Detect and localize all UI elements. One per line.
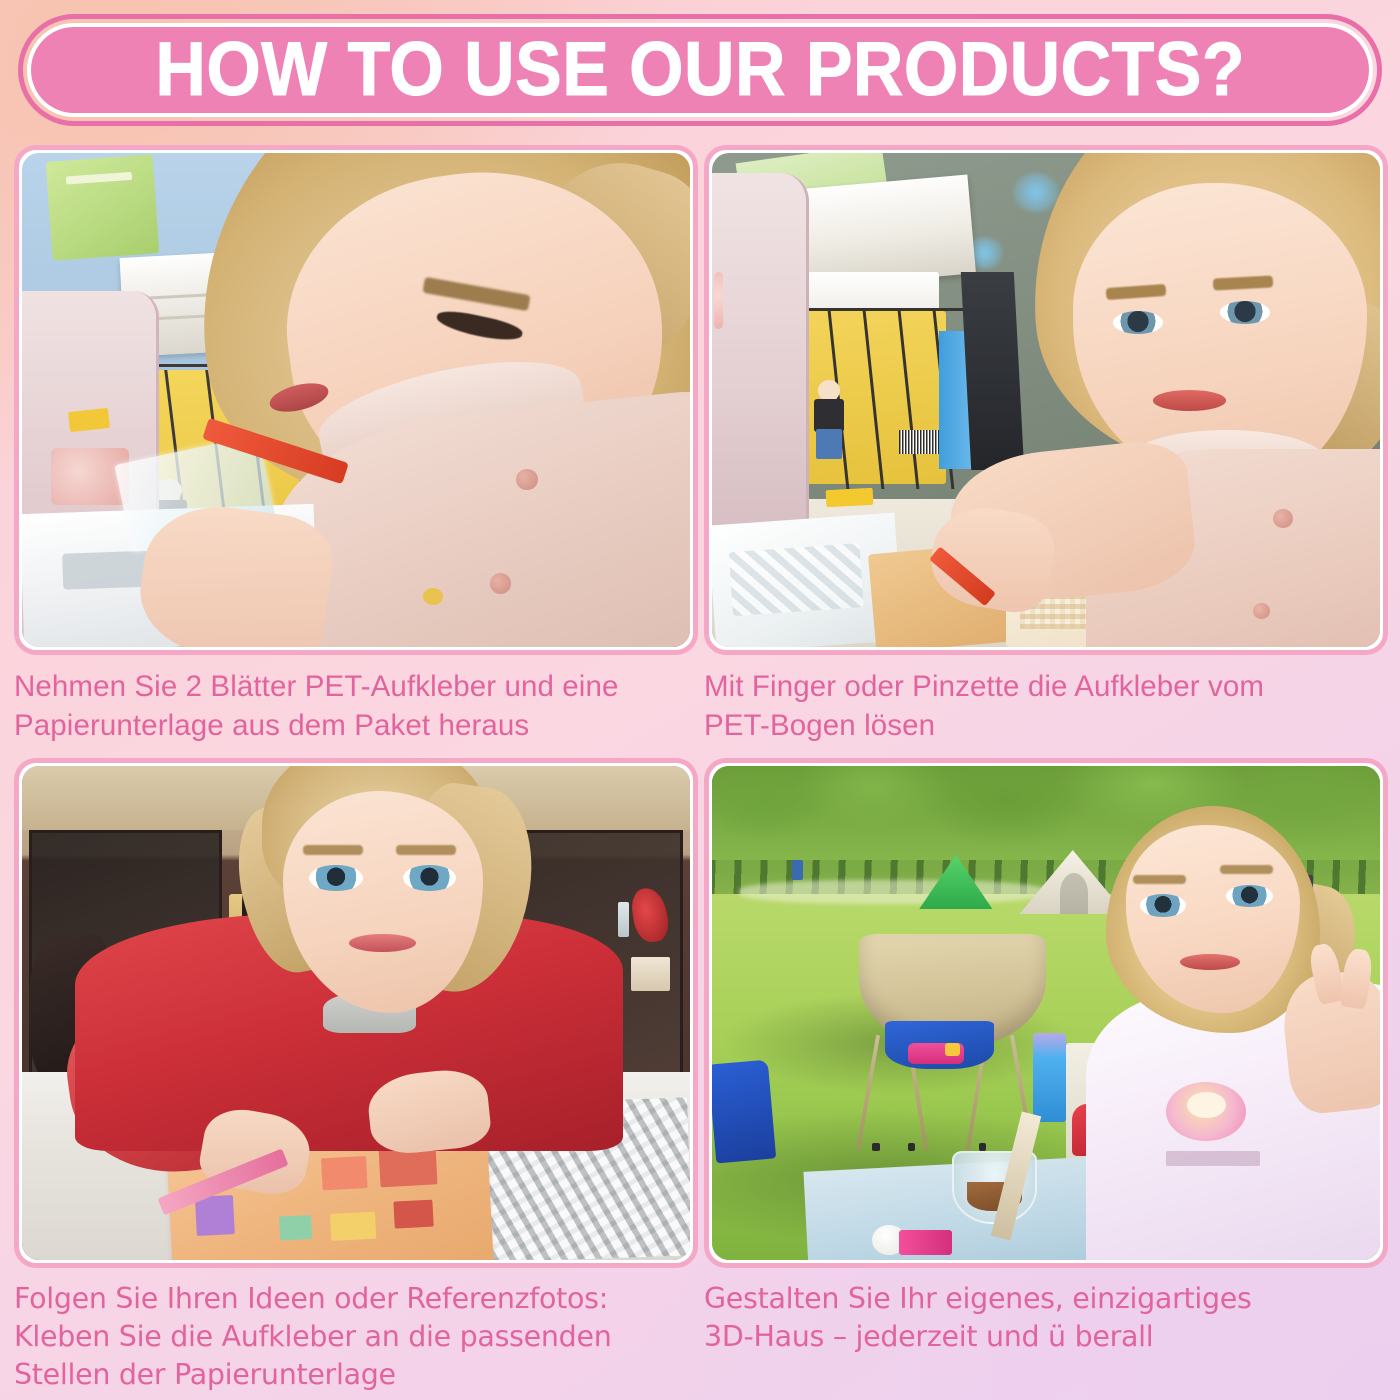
step-photo-3 <box>22 766 690 1260</box>
step-caption-2: Mit Finger oder Pinzette die Aufkleber v… <box>704 667 1376 745</box>
steps-grid: Nehmen Sie 2 Blätter PET-Aufkleber und e… <box>0 140 1400 1400</box>
step-photo-frame-2 <box>704 145 1388 655</box>
header-banner-inner: HOW TO USE OUR PRODUCTS? <box>27 23 1373 117</box>
step-caption-3: Folgen Sie Ihren Ideen oder Referenzfoto… <box>14 1280 686 1394</box>
step-card-4: Gestalten Sie Ihr eigenes, einzigartiges… <box>704 758 1388 1356</box>
header-banner: HOW TO USE OUR PRODUCTS? <box>18 14 1382 126</box>
how-to-use-infographic: HOW TO USE OUR PRODUCTS? <box>0 0 1400 1400</box>
step-photo-1 <box>22 153 690 647</box>
step-photo-frame-4 <box>704 758 1388 1268</box>
step-photo-frame-3 <box>14 758 698 1268</box>
step-photo-4 <box>712 766 1380 1260</box>
step-card-2: Mit Finger oder Pinzette die Aufkleber v… <box>704 145 1388 745</box>
step-photo-frame-1 <box>14 145 698 655</box>
step-caption-4: Gestalten Sie Ihr eigenes, einzigartiges… <box>704 1280 1376 1356</box>
step-card-3: Folgen Sie Ihren Ideen oder Referenzfoto… <box>14 758 698 1394</box>
step-caption-1: Nehmen Sie 2 Blätter PET-Aufkleber und e… <box>14 667 686 745</box>
step-card-1: Nehmen Sie 2 Blätter PET-Aufkleber und e… <box>14 145 698 745</box>
step-photo-2 <box>712 153 1380 647</box>
page-title: HOW TO USE OUR PRODUCTS? <box>155 32 1245 108</box>
